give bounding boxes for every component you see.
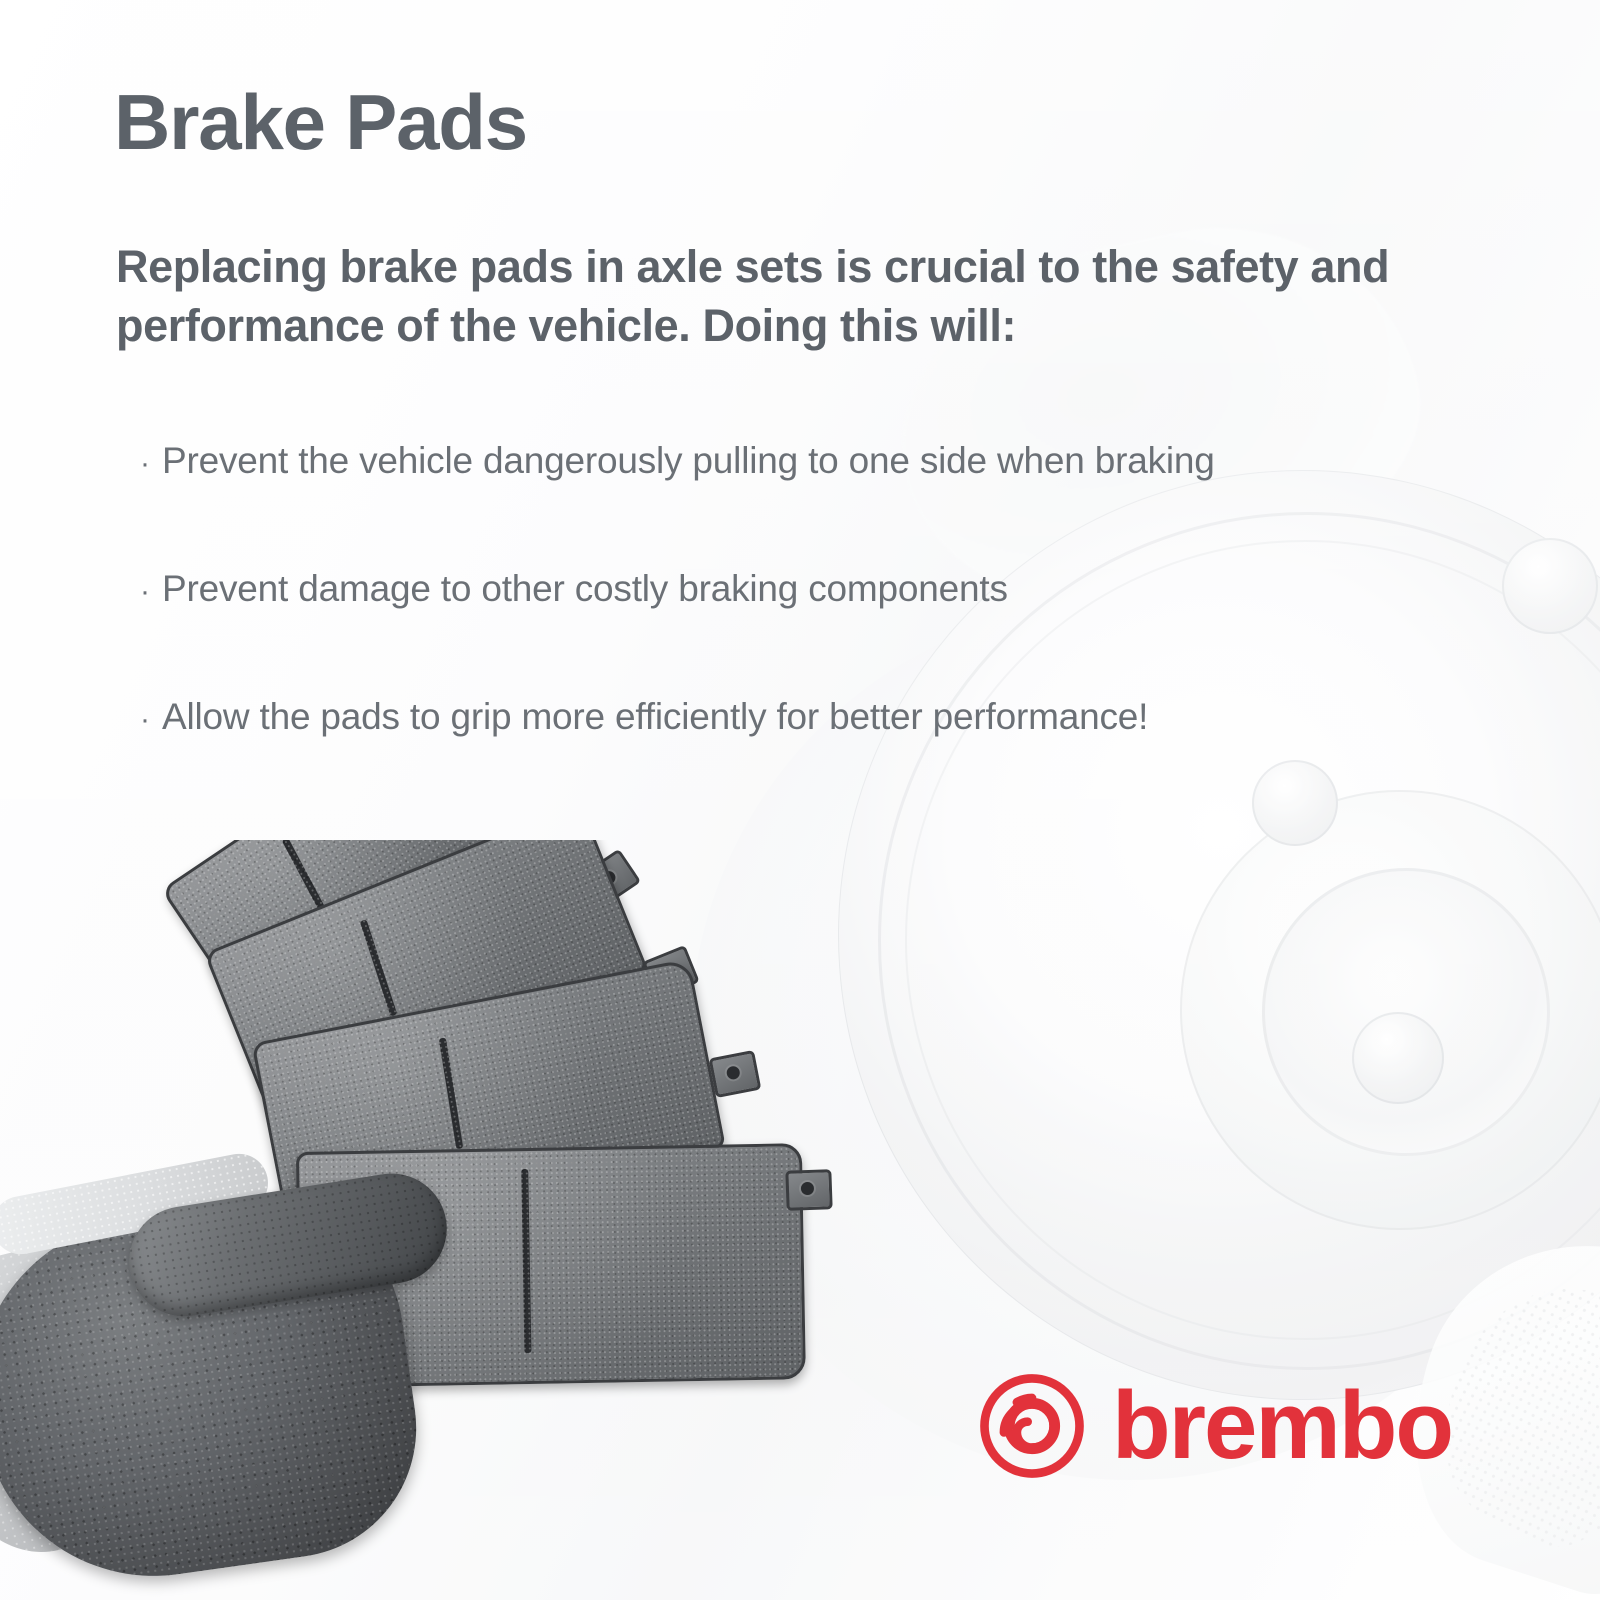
benefits-list: · Prevent the vehicle dangerously pullin… [140, 440, 1540, 824]
brembo-wordmark: brembo [1112, 1378, 1452, 1474]
intro-paragraph: Replacing brake pads in axle sets is cru… [116, 238, 1476, 355]
bullet-dot-icon: · [140, 449, 162, 479]
list-item: · Prevent damage to other costly braking… [140, 568, 1540, 696]
list-item-label: Prevent the vehicle dangerously pulling … [162, 440, 1540, 482]
background-bolt-hole [1352, 1012, 1444, 1104]
brake-pad-tab-hole [801, 1182, 814, 1195]
page-title: Brake Pads [114, 83, 527, 161]
brake-pad-tab-hole [726, 1065, 741, 1080]
brake-pad-slot [439, 1037, 463, 1149]
brake-pads-infographic: Brake Pads Replacing brake pads in axle … [0, 0, 1600, 1600]
brake-pad-tab [709, 1050, 762, 1098]
background-rotor-hub-center [1262, 868, 1550, 1156]
brake-pads-photo [0, 840, 900, 1600]
list-item-label: Allow the pads to grip more efficiently … [162, 696, 1540, 738]
work-glove-hand [0, 1170, 520, 1600]
bullet-dot-icon: · [140, 705, 162, 735]
list-item-label: Prevent damage to other costly braking c… [162, 568, 1540, 610]
list-item: · Allow the pads to grip more efficientl… [140, 696, 1540, 824]
brembo-spiral-mark-icon [978, 1372, 1086, 1480]
list-item: · Prevent the vehicle dangerously pullin… [140, 440, 1540, 568]
brake-pad-tab [785, 1169, 832, 1211]
brembo-logo: brembo [978, 1372, 1452, 1480]
background-rotor-hub [1180, 790, 1600, 1230]
bullet-dot-icon: · [140, 577, 162, 607]
brake-pad-slot [360, 919, 398, 1016]
brake-pad-slot [521, 1169, 531, 1353]
